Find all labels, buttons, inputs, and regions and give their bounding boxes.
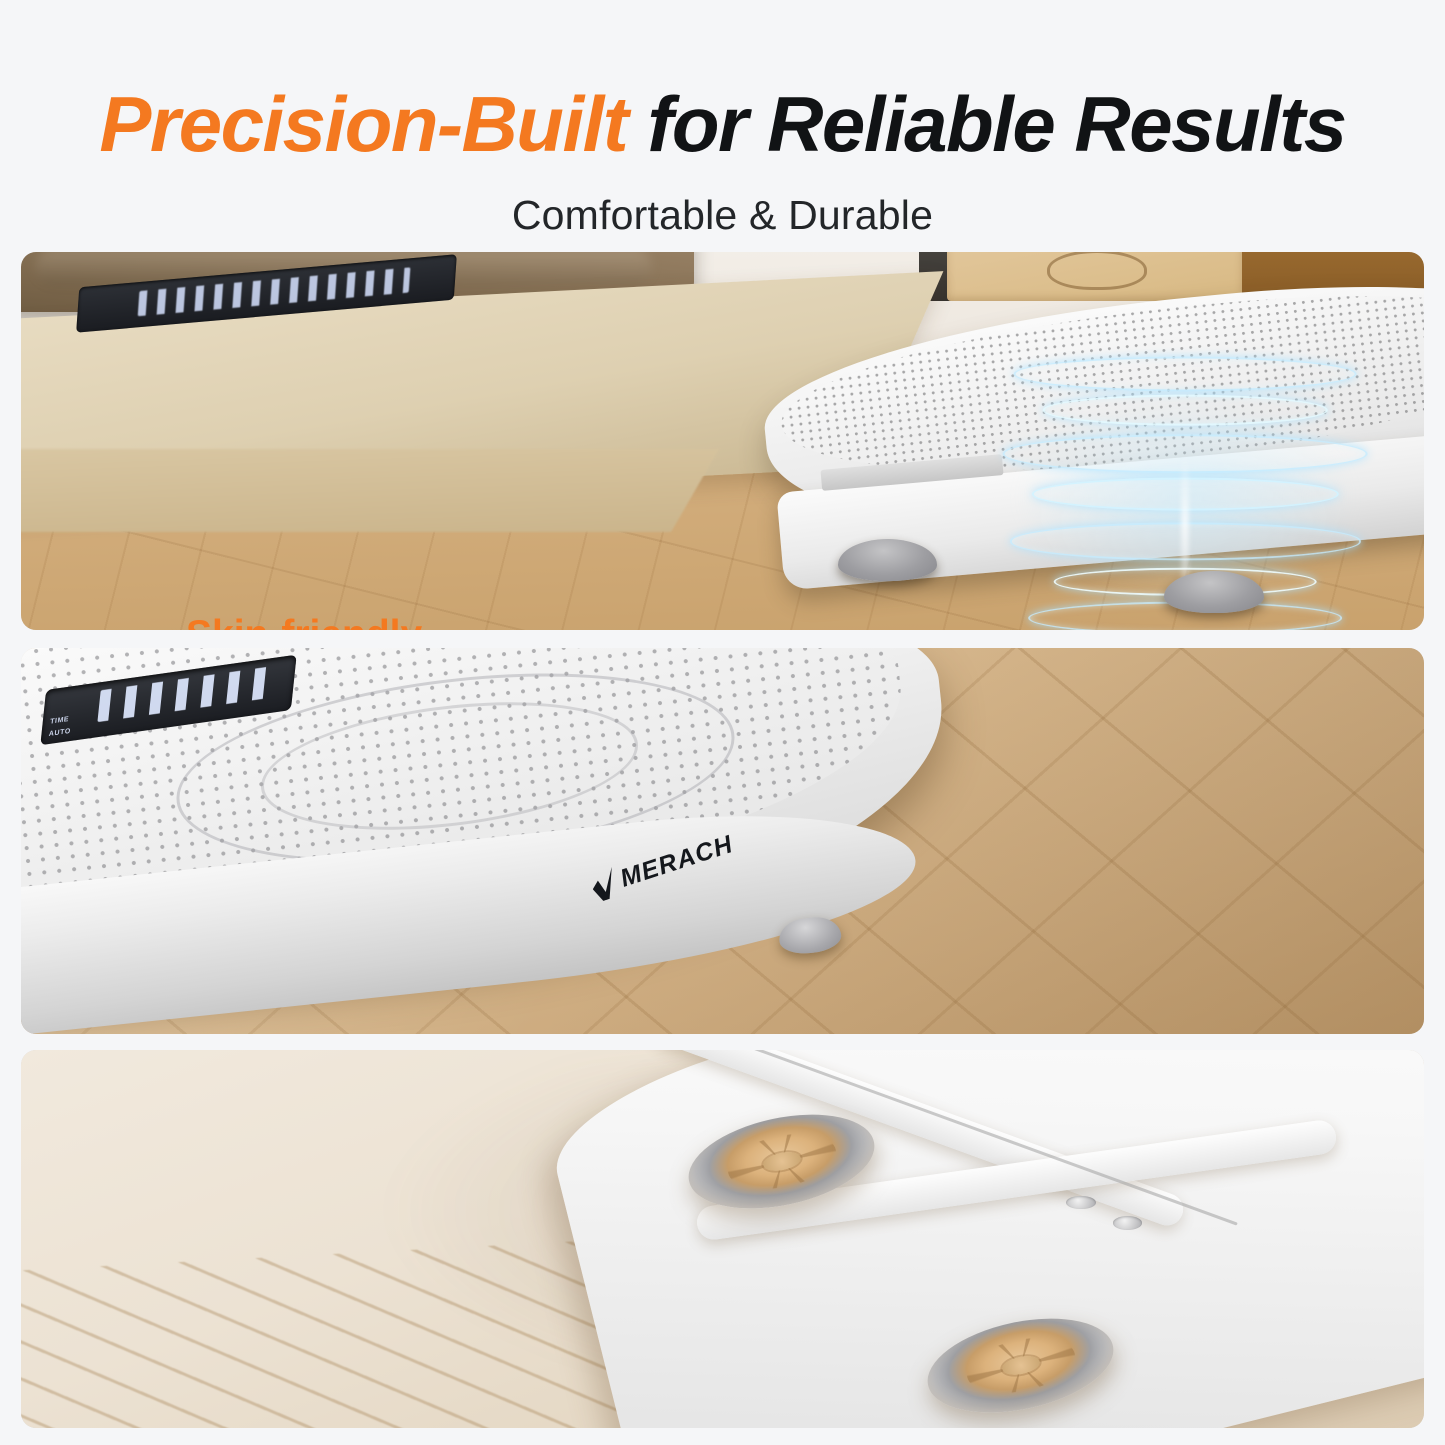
page-subtitle: Comfortable & Durable [0, 192, 1445, 238]
product-feature-page: Precision-Built for Reliable Results Com… [0, 0, 1445, 1445]
panel-3-photo [21, 1050, 1424, 1428]
screw-hole-b [1113, 1216, 1142, 1230]
page-title-highlight: Precision-Built [99, 80, 627, 168]
vibration-beam [1182, 454, 1188, 590]
rubber-foot-left [838, 539, 938, 581]
feature-panel-shock-absorbing: TIME AUTO MERACH Shock-absorbing constru… [21, 648, 1424, 1034]
page-title: Precision-Built for Reliable Results [0, 84, 1445, 164]
caption-skin-friendly: Skin-friendly silicone pedal [186, 612, 450, 630]
rubber-foot-right [1164, 571, 1264, 613]
page-title-rest: for Reliable Results [627, 80, 1345, 168]
feature-panel-anti-slip: Anti-slip suction cup [21, 1050, 1424, 1428]
lcd-label-time: TIME [50, 716, 70, 726]
feature-panel-skin-friendly: Skin-friendly silicone pedal [21, 252, 1424, 630]
cardboard-box [947, 252, 1242, 301]
caption-1-highlight: Skin-friendly [186, 612, 450, 630]
screw-hole-a [1066, 1196, 1095, 1210]
lcd-label-auto: AUTO [48, 728, 71, 738]
beige-rug-edge [21, 449, 718, 532]
panel-2-photo: TIME AUTO MERACH [21, 648, 1424, 1034]
panel-1-photo [21, 252, 1424, 630]
page-header: Precision-Built for Reliable Results Com… [0, 0, 1445, 250]
